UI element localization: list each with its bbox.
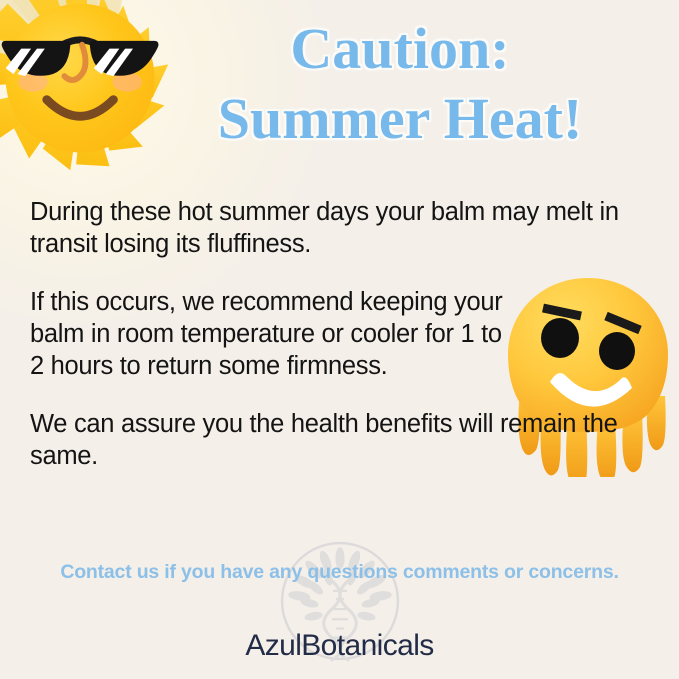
paragraph-3: We can assure you the health benefits wi… — [30, 408, 648, 472]
paragraph-1: During these hot summer days your balm m… — [30, 196, 640, 260]
brand-name: AzulBotanicals — [0, 629, 679, 663]
title-line-1: Caution: — [150, 14, 650, 84]
contact-line[interactable]: Contact us if you have any questions com… — [0, 561, 679, 584]
title-line-2: Summer Heat! — [150, 84, 650, 154]
poster-title: Caution: Summer Heat! — [150, 14, 650, 154]
poster-canvas: Caution: Summer Heat! — [0, 0, 679, 679]
paragraph-2: If this occurs, we recommend keeping you… — [30, 286, 510, 382]
body-copy: During these hot summer days your balm m… — [30, 196, 648, 498]
